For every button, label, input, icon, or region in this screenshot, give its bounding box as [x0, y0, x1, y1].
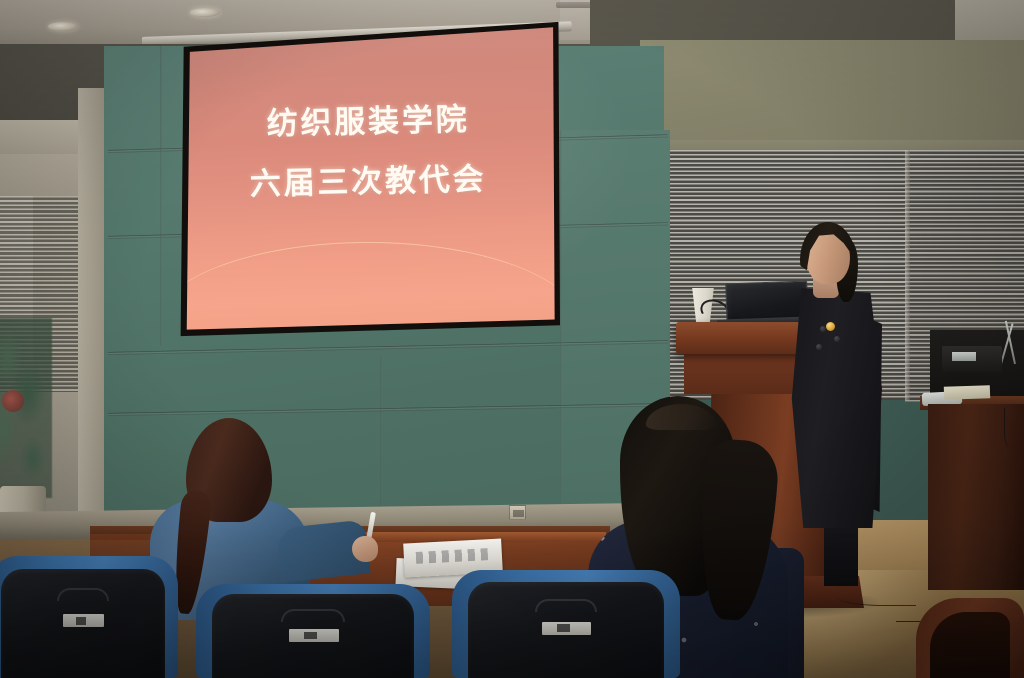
- projection-screen: 纺织服装学院 六届三次教代会: [176, 18, 560, 338]
- seat-shell: [1, 569, 164, 678]
- seat-number-mark: [76, 617, 87, 625]
- power-outlet-slot: [513, 510, 524, 517]
- wall-panel-seam-vertical: [160, 46, 162, 346]
- speaker-brooch: [826, 322, 835, 331]
- seat-handle-notch: [535, 599, 598, 612]
- ceiling-spotlight-icon: [48, 22, 78, 31]
- slide-title-line-2: 六届三次教代会: [176, 151, 560, 205]
- auditorium-seat[interactable]: [0, 556, 178, 678]
- wall-panel-seam-vertical: [380, 356, 382, 512]
- seat-number-label: [289, 629, 339, 642]
- conference-room-photo: 纺织服装学院 六届三次教代会: [0, 0, 1024, 678]
- wall-olive-panel: [640, 40, 1024, 150]
- attendee-left-hand: [352, 536, 378, 562]
- slide-title-line-1: 纺织服装学院: [176, 92, 560, 146]
- seat-handle-notch: [57, 588, 109, 601]
- projection-screen-surface: 纺织服装学院 六届三次教代会: [176, 18, 560, 338]
- seat-shell: [468, 582, 664, 678]
- receiver-display: [952, 352, 976, 361]
- auditorium-seat[interactable]: [452, 570, 680, 678]
- seat-handle-notch: [281, 609, 345, 622]
- wall-panel-seam-vertical: [560, 130, 562, 520]
- seat-shell: [212, 594, 413, 678]
- seat-number-label: [542, 622, 591, 635]
- blazer-button: [834, 336, 840, 342]
- power-outlet: [509, 505, 526, 520]
- ceiling-spotlight-icon: [190, 8, 220, 17]
- document-stack: [944, 385, 990, 400]
- seat-number-mark: [304, 632, 317, 640]
- wall-louver-seam: [905, 150, 910, 400]
- av-cable: [1004, 408, 1018, 448]
- auditorium-seat[interactable]: [196, 584, 430, 678]
- paper-text-lines: [416, 548, 489, 564]
- seat-number-mark: [557, 624, 570, 632]
- seat-number-label: [63, 614, 104, 627]
- chair-seat-back[interactable]: [930, 612, 1010, 678]
- potted-plant-flower: [2, 390, 24, 412]
- blazer-button: [816, 344, 822, 350]
